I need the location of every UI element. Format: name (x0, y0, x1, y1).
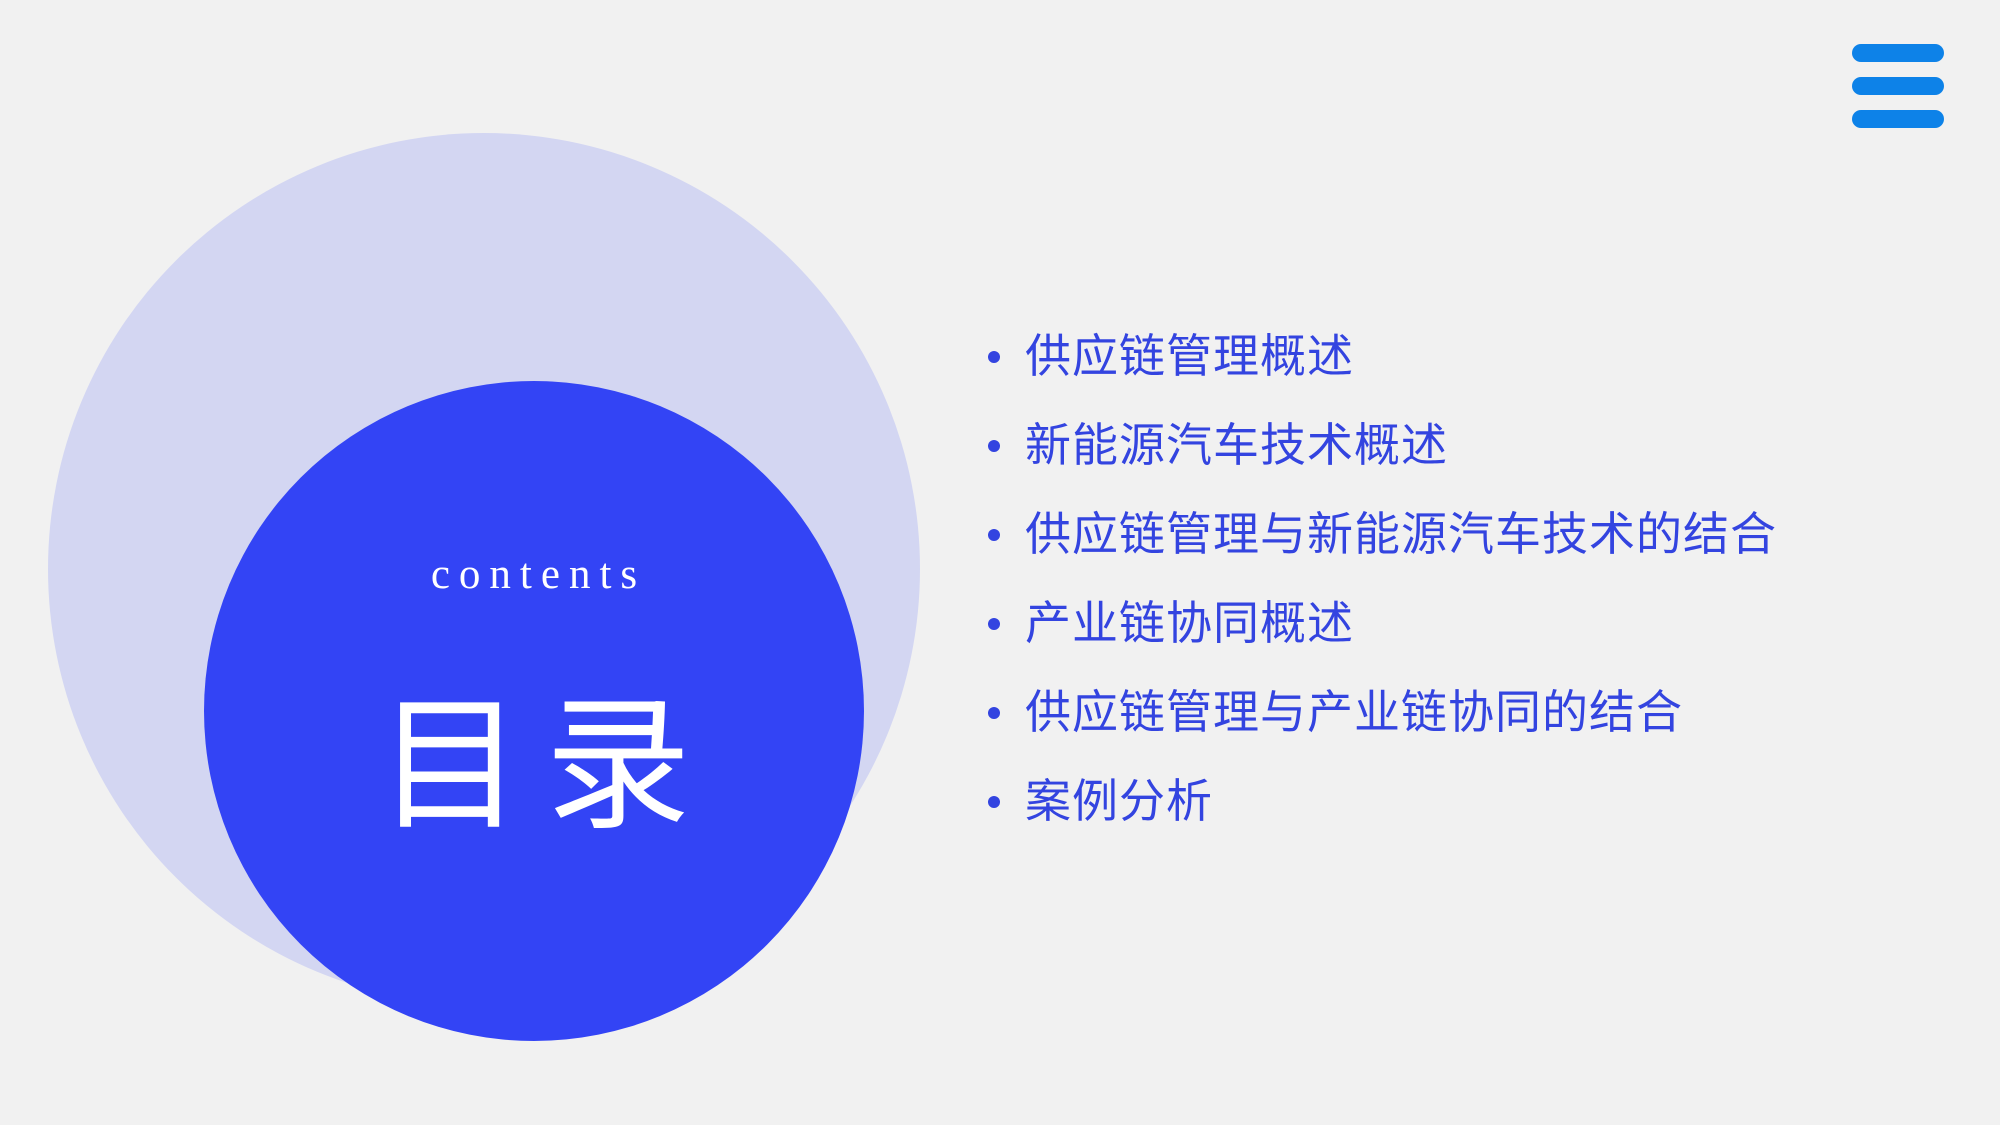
table-of-contents-list: 供应链管理概述 新能源汽车技术概述 供应链管理与新能源汽车技术的结合 产业链协同… (988, 312, 1948, 846)
list-item-label: 案例分析 (1025, 779, 1213, 825)
list-item[interactable]: 案例分析 (988, 757, 1948, 846)
bullet-icon (988, 351, 1000, 363)
contents-inner-circle: contents 目录 (204, 381, 864, 1041)
list-item-label: 产业链协同概述 (1025, 601, 1354, 647)
bullet-icon (988, 440, 1000, 452)
bullet-icon (988, 529, 1000, 541)
list-item[interactable]: 供应链管理与产业链协同的结合 (988, 668, 1948, 757)
list-item[interactable]: 供应链管理概述 (988, 312, 1948, 401)
contents-outer-ring: contents 目录 (48, 133, 920, 1005)
contents-label-chinese: 目录 (204, 681, 864, 853)
list-item-label: 供应链管理与新能源汽车技术的结合 (1025, 512, 1777, 558)
bullet-icon (988, 618, 1000, 630)
bullet-icon (988, 707, 1000, 719)
bullet-icon (988, 796, 1000, 808)
hamburger-menu-icon-bar-1 (1852, 44, 1944, 62)
list-item-label: 供应链管理概述 (1025, 334, 1354, 380)
contents-label-english: contents (204, 553, 864, 596)
list-item-label: 新能源汽车技术概述 (1025, 423, 1448, 469)
list-item[interactable]: 供应链管理与新能源汽车技术的结合 (988, 490, 1948, 579)
list-item-label: 供应链管理与产业链协同的结合 (1025, 690, 1683, 736)
list-item[interactable]: 新能源汽车技术概述 (988, 401, 1948, 490)
slide-canvas: contents 目录 供应链管理概述 新能源汽车技术概述 供应链管理与新能源汽… (0, 0, 2000, 1125)
hamburger-menu-icon-bar-3 (1852, 110, 1944, 128)
hamburger-menu-icon-bar-2 (1852, 77, 1944, 95)
list-item[interactable]: 产业链协同概述 (988, 579, 1948, 668)
hamburger-menu-button[interactable] (1852, 44, 1944, 128)
